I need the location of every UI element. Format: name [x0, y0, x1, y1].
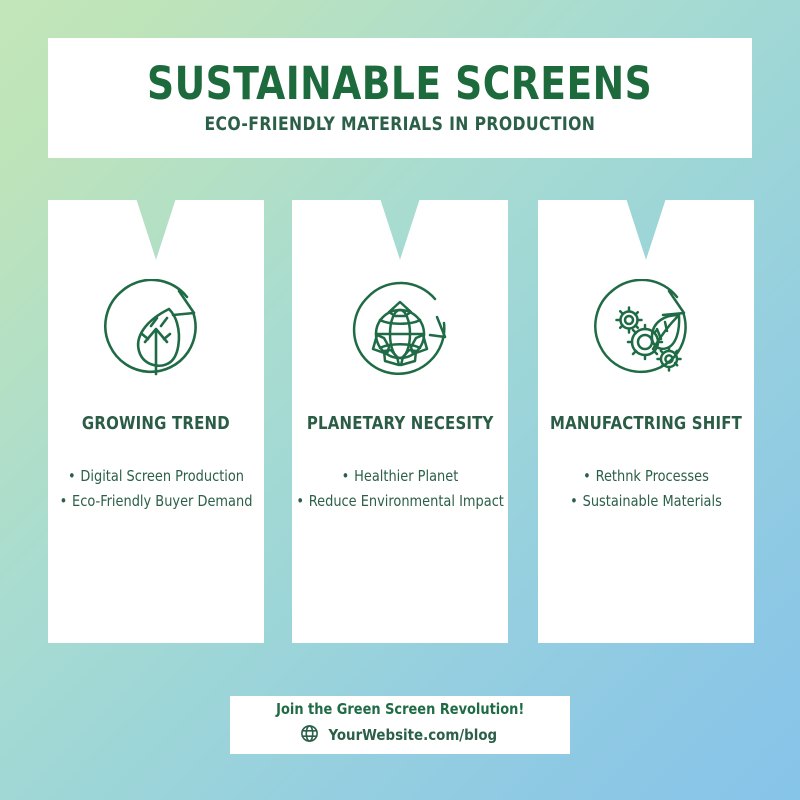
card-manufactring-shift: MANUFACTRING SHIFT •Rethnk Processes •Su…: [538, 200, 754, 643]
bullet-text: Reduce Environmental Impact: [309, 492, 504, 510]
bullet-text: Eco-Friendly Buyer Demand: [72, 492, 252, 510]
leaf-growth-cycle-icon: [96, 278, 216, 390]
header-band: SUSTAINABLE SCREENS ECO-FRIENDLY MATERIA…: [48, 38, 752, 158]
card-title: GROWING TREND: [82, 416, 230, 434]
card-bullet-list: •Healthier Planet •Reduce Environmental …: [292, 464, 508, 516]
footer-url-text[interactable]: YourWebsite.com/blog: [328, 728, 497, 744]
card-planetary-necesity: PLANETARY NECESITY •Healthier Planet •Re…: [292, 200, 508, 643]
card-growing-trend: GROWING TREND •Digital Screen Production…: [48, 200, 264, 643]
page-title: SUSTAINABLE SCREENS: [147, 61, 652, 106]
page-subtitle: ECO-FRIENDLY MATERIALS IN PRODUCTION: [205, 116, 596, 135]
list-item: •Eco-Friendly Buyer Demand: [52, 489, 259, 515]
footer-url-row[interactable]: YourWebsite.com/blog: [300, 724, 501, 748]
footer-band: Join the Green Screen Revolution! YourWe…: [230, 696, 570, 754]
globe-recycle-cycle-icon: [340, 278, 460, 390]
list-item: •Reduce Environmental Impact: [296, 489, 503, 515]
footer-cta-text: Join the Green Screen Revolution!: [276, 702, 524, 717]
bullet-text: Rethnk Processes: [596, 467, 709, 485]
card-bullet-list: •Digital Screen Production •Eco-Friendly…: [48, 464, 264, 516]
list-item: •Rethnk Processes: [542, 464, 749, 490]
infographic-poster: SUSTAINABLE SCREENS ECO-FRIENDLY MATERIA…: [0, 0, 800, 800]
list-item: •Digital Screen Production: [52, 464, 259, 490]
bullet-dot: •: [60, 489, 68, 515]
bullet-dot: •: [342, 464, 350, 490]
bullet-text: Digital Screen Production: [80, 467, 244, 485]
card-bullet-list: •Rethnk Processes •Sustainable Materials: [538, 464, 754, 516]
bullet-dot: •: [296, 489, 304, 515]
globe-icon: [300, 724, 319, 748]
bullet-dot: •: [583, 464, 591, 490]
card-title: MANUFACTRING SHIFT: [550, 416, 742, 434]
bullet-text: Sustainable Materials: [583, 492, 722, 510]
cards-row: GROWING TREND •Digital Screen Production…: [0, 200, 800, 644]
bullet-text: Healthier Planet: [354, 467, 458, 485]
list-item: •Healthier Planet: [296, 464, 503, 490]
gears-leaf-cycle-icon: [586, 278, 706, 390]
list-item: •Sustainable Materials: [542, 489, 749, 515]
bullet-dot: •: [570, 489, 578, 515]
card-title: PLANETARY NECESITY: [307, 416, 494, 434]
bullet-dot: •: [68, 464, 76, 490]
